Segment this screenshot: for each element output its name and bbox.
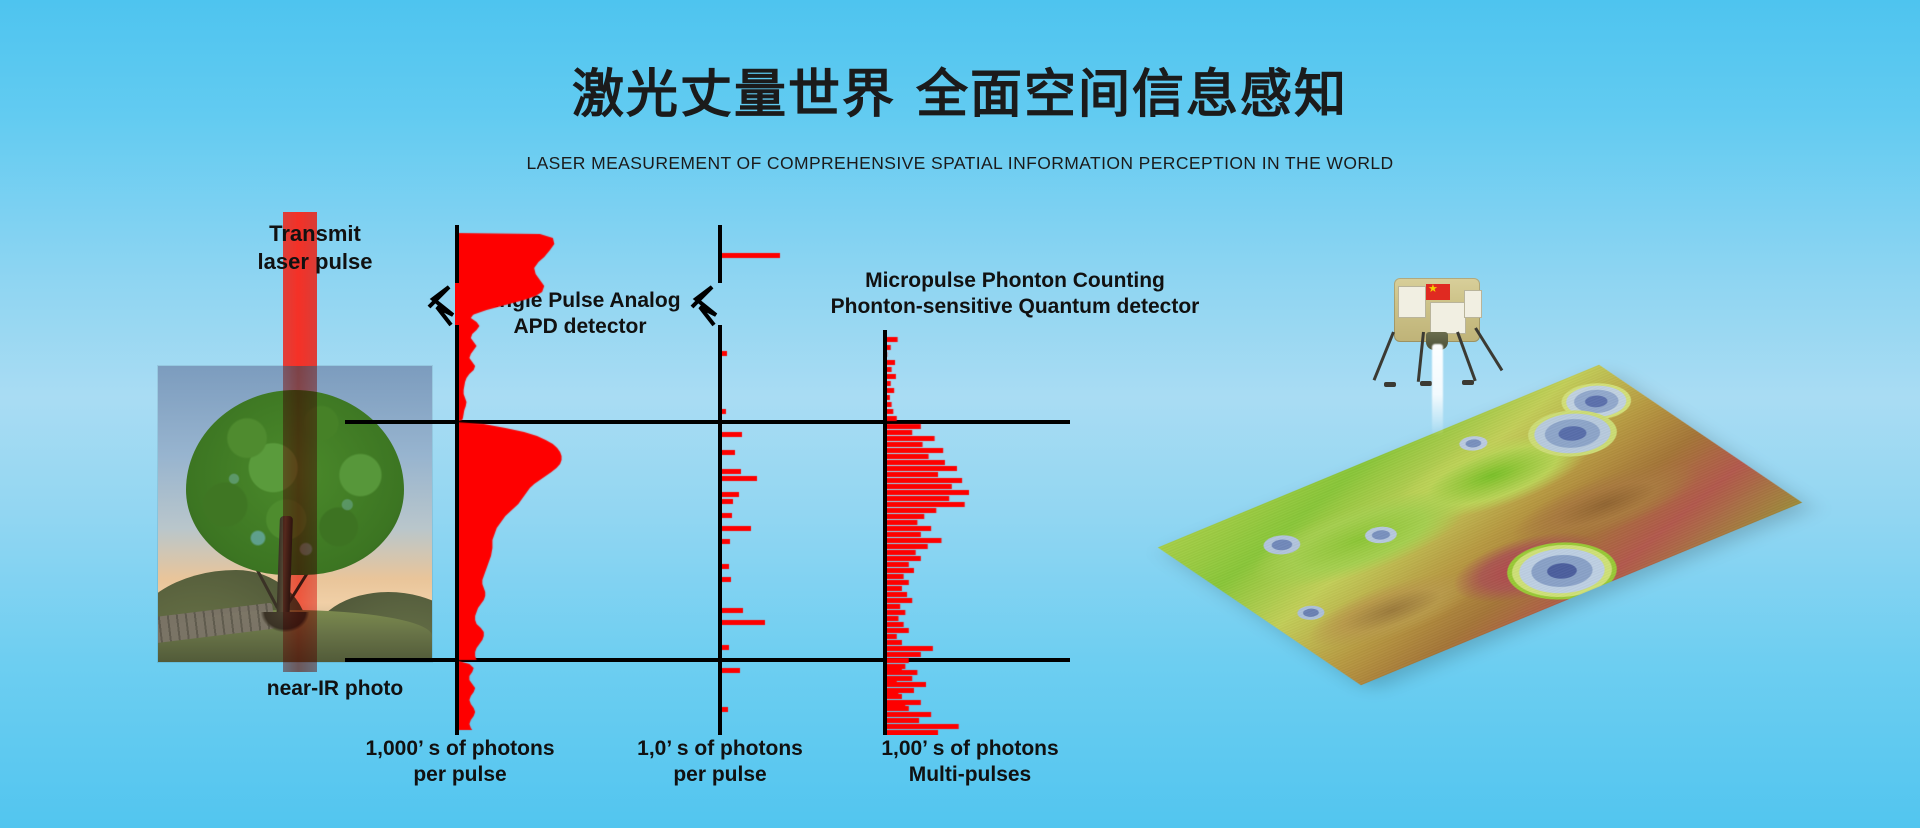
caption-panel-1: 1,000’ s of photons per pulse	[330, 736, 590, 789]
chart-ten-photons-per-pulse	[718, 225, 838, 735]
page-subtitle: LASER MEASUREMENT OF COMPREHENSIVE SPATI…	[0, 153, 1920, 174]
lander-panel	[1430, 302, 1466, 334]
caption-panel-2: 1,0’ s of photons per pulse	[600, 736, 840, 789]
lander-footpad	[1420, 381, 1432, 386]
transmit-laser-pulse-label: Transmit laser pulse	[205, 220, 425, 275]
page-title: 激光丈量世界 全面空间信息感知	[0, 52, 1920, 127]
lunar-lidar-scene	[1180, 250, 1920, 750]
near-ir-photo-label: near-IR photo	[205, 676, 465, 702]
panel2-axis-lower	[718, 325, 722, 735]
panel3-axis	[883, 330, 887, 735]
lander-panel	[1398, 286, 1426, 318]
lunar-lander	[1376, 270, 1496, 390]
caption-panel-3: 1,00’ s of photons Multi-pulses	[840, 736, 1100, 789]
lander-laser-beam	[1432, 344, 1443, 436]
chart-micropulse-photon-counting	[883, 330, 1063, 735]
panel1-axis-lower	[455, 325, 459, 735]
lander-footpad	[1462, 380, 1474, 385]
panel2-axis-break-icon	[690, 273, 750, 333]
transmit-laser-beam	[283, 212, 317, 672]
panel3-waveform	[883, 330, 1063, 735]
lander-leg	[1373, 331, 1395, 380]
micropulse-detector-label: Micropulse Phonton Counting Phonton-sens…	[800, 268, 1230, 321]
chart-single-pulse-analog-apd	[455, 225, 635, 735]
chinese-flag-icon	[1426, 284, 1450, 300]
terrain-elevation-model	[1158, 365, 1802, 686]
infographic-canvas: 激光丈量世界 全面空间信息感知 LASER MEASUREMENT OF COM…	[0, 0, 1920, 828]
lander-panel	[1464, 290, 1482, 318]
lander-footpad	[1384, 382, 1396, 387]
panel1-axis-break-icon	[427, 273, 487, 333]
lander-leg	[1474, 327, 1503, 371]
